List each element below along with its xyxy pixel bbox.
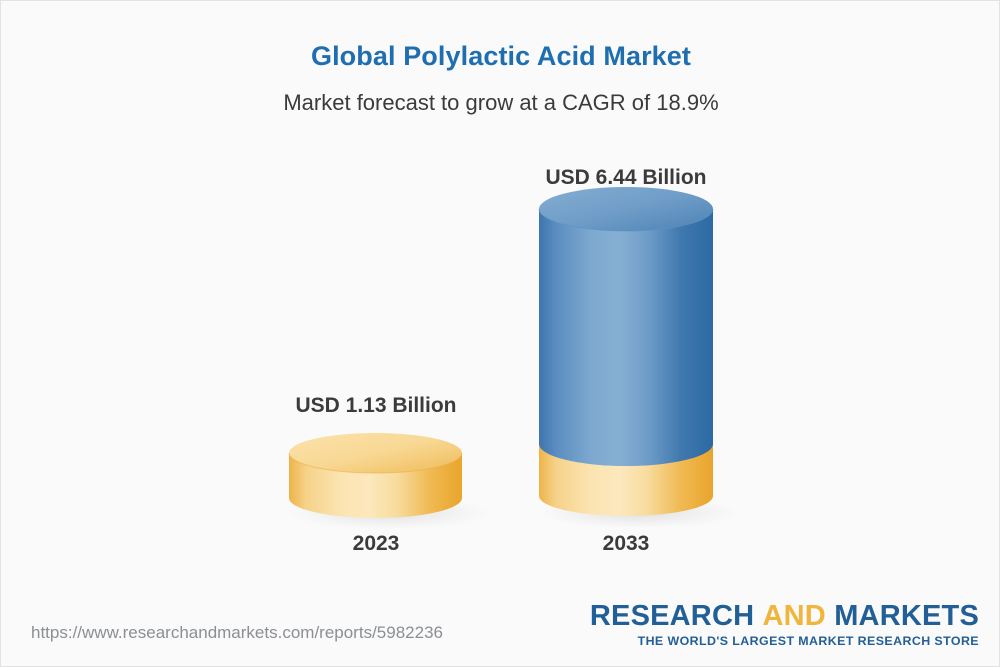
bar-value-label-2023: USD 1.13 Billion	[256, 394, 496, 418]
chart-plot-area: USD 1.13 Billion USD 6.44 Billion 2023 2…	[1, 1, 1000, 601]
brand-word-markets: MARKETS	[834, 600, 979, 632]
category-label-2033: 2033	[506, 532, 746, 556]
brand-wordmark: RESEARCH AND MARKETS	[590, 601, 979, 631]
bar-2033[interactable]	[536, 187, 742, 529]
chart-canvas: Global Polylactic Acid Market Market for…	[0, 0, 1000, 667]
bar-2023[interactable]	[286, 433, 492, 530]
source-url[interactable]: https://www.researchandmarkets.com/repor…	[31, 623, 443, 643]
brand-word-research: RESEARCH	[590, 600, 754, 632]
bar-2033-body	[539, 209, 713, 466]
brand-logo: RESEARCH AND MARKETS THE WORLD'S LARGEST…	[590, 601, 979, 648]
brand-tagline: THE WORLD'S LARGEST MARKET RESEARCH STOR…	[590, 634, 979, 648]
bar-value-label-2033: USD 6.44 Billion	[506, 166, 746, 190]
category-label-2023: 2023	[256, 532, 496, 556]
brand-word-and: AND	[763, 600, 826, 632]
cylinder-bar-chart-svg	[1, 1, 1000, 601]
